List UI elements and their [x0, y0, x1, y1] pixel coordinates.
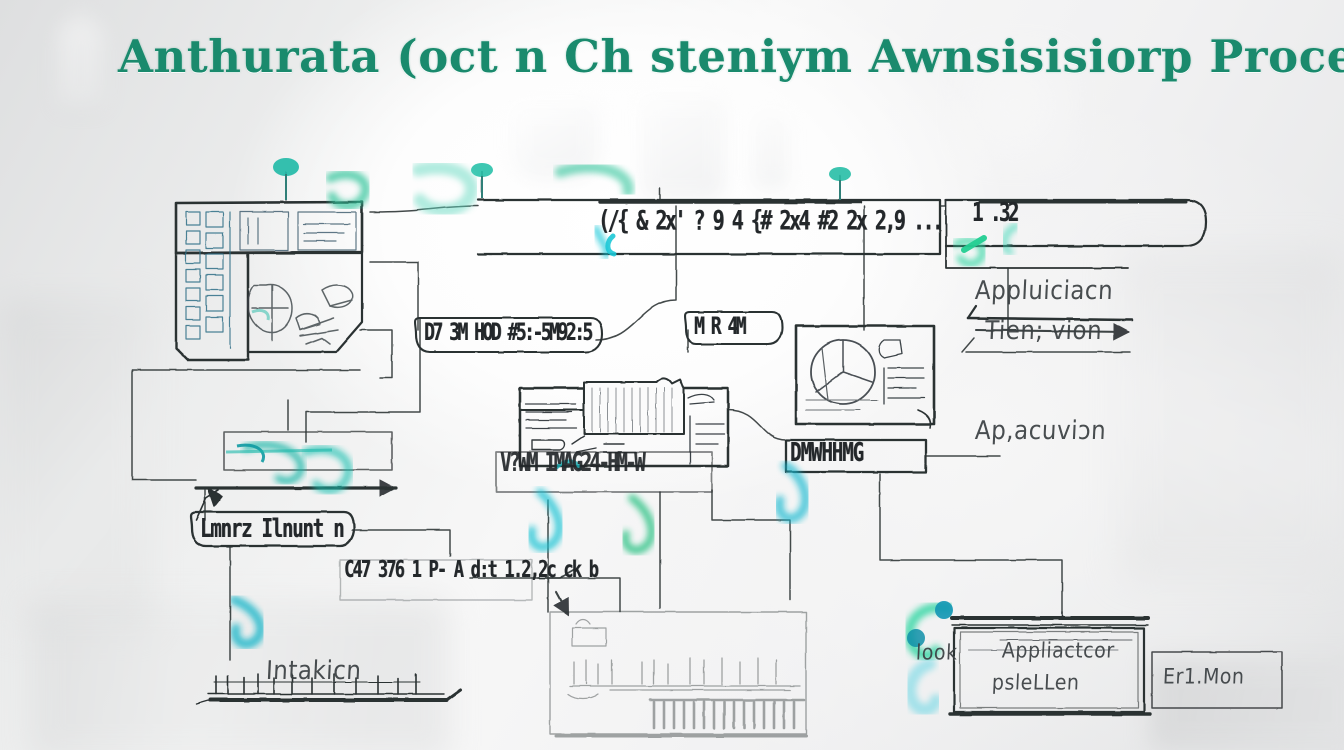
node-label-intake: Intakicn: [265, 656, 362, 685]
node-label-application-system-line2: psleLLen: [991, 671, 1080, 696]
whiteboard-canvas: Anthurata (oct n Ch steniym Awnsisisiorp…: [0, 0, 1344, 750]
annotation-application: Ap,acuviɔn: [974, 416, 1107, 445]
annotation-application-tension-line1: Appluiciacn: [974, 276, 1114, 305]
annotation-application-tension-line2: Tien; vion: [984, 316, 1103, 345]
node-label-environment: Er1.Mon: [1162, 665, 1245, 690]
node-label-application-system-line1: Appliactcor: [1001, 639, 1115, 664]
annotation-look: look: [915, 641, 958, 666]
diagram-sketch-layer: [0, 0, 1344, 750]
